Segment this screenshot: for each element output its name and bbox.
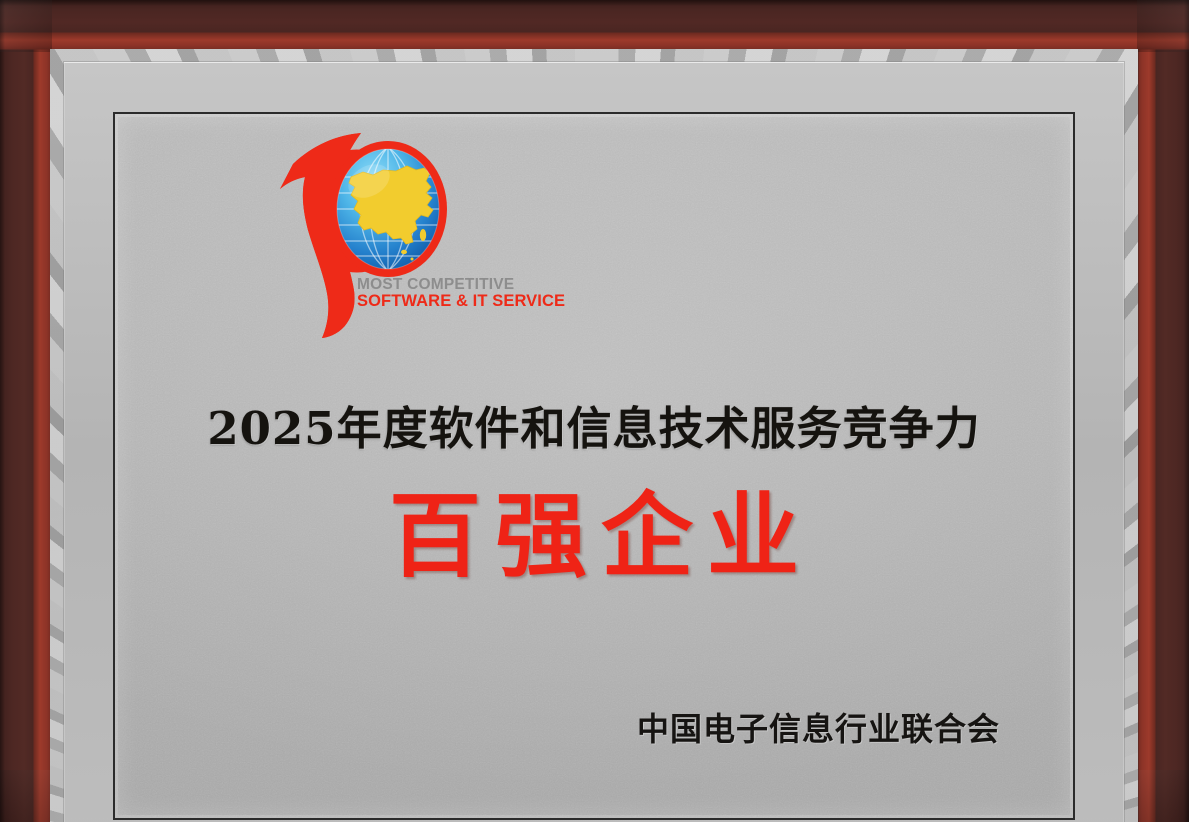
award-plaque-image: MOST COMPETITIVE SOFTWARE & IT SERVICE 2… <box>0 0 1189 822</box>
logo-tagline-line1: MOST COMPETITIVE <box>357 277 565 293</box>
issuing-organization: 中国电子信息行业联合会 <box>637 704 1000 750</box>
plaque-content: MOST COMPETITIVE SOFTWARE & IT SERVICE 2… <box>115 114 1073 818</box>
greek-key-border-panel: MOST COMPETITIVE SOFTWARE & IT SERVICE 2… <box>64 62 1124 822</box>
silver-plaque: MOST COMPETITIVE SOFTWARE & IT SERVICE 2… <box>50 49 1138 822</box>
award-logo: MOST COMPETITIVE SOFTWARE & IT SERVICE <box>265 131 515 341</box>
award-title-main: 2025年度软件和信息技术服务竞争力 <box>115 392 1073 457</box>
logo-tagline-line2: SOFTWARE & IT SERVICE <box>357 293 565 310</box>
award-title-sub: 百强企业 <box>115 488 1073 585</box>
engraved-inner-panel: MOST COMPETITIVE SOFTWARE & IT SERVICE 2… <box>113 112 1075 820</box>
logo-tagline: MOST COMPETITIVE SOFTWARE & IT SERVICE <box>357 277 565 311</box>
